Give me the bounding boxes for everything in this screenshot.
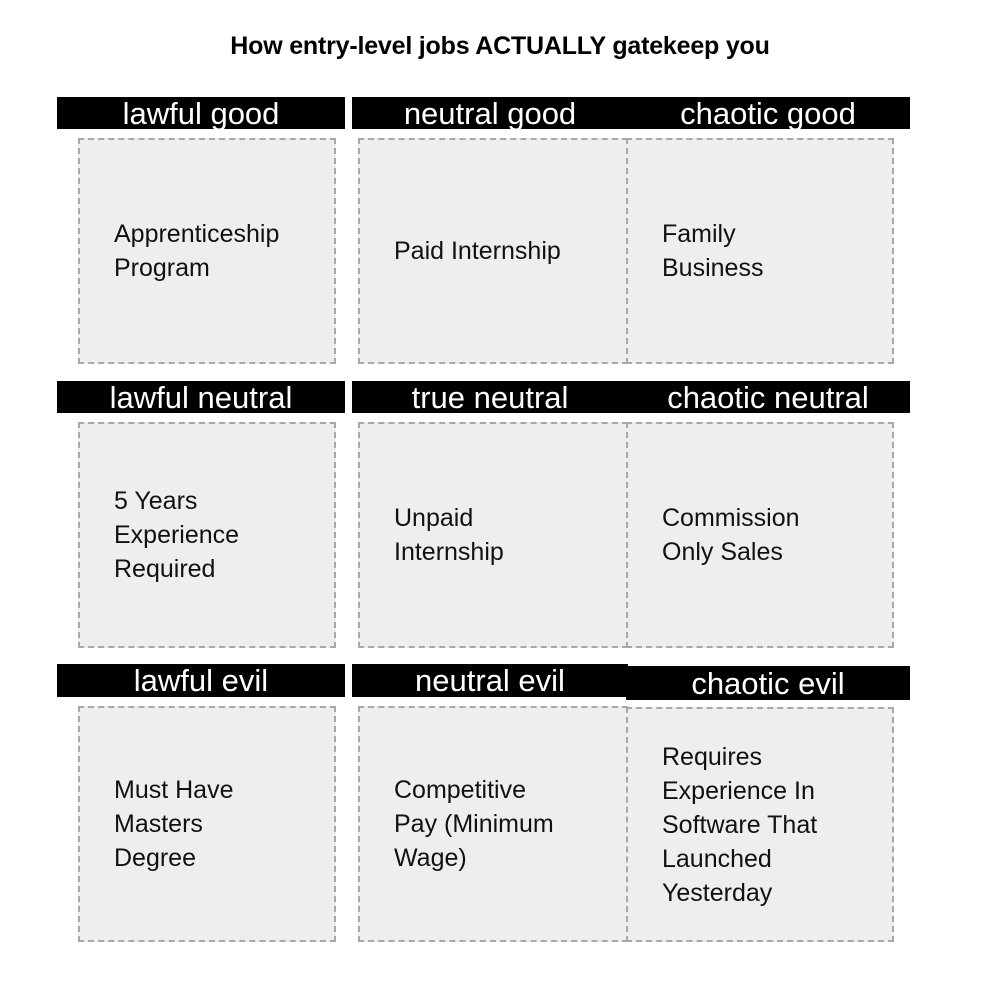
quadrant-label-neutral-evil: Competitive Pay (Minimum Wage) [360, 773, 568, 875]
quadrant-body-neutral-good[interactable]: Paid Internship [358, 138, 628, 364]
quadrant-header-neutral-good: neutral good [352, 97, 628, 129]
quadrant-label-neutral-good: Paid Internship [360, 234, 575, 268]
quadrant-header-chaotic-good: chaotic good [626, 97, 910, 129]
quadrant-header-lawful-evil: lawful evil [57, 664, 345, 697]
alignment-chart: How entry-level jobs ACTUALLY gatekeep y… [0, 0, 1000, 1000]
quadrant-label-lawful-neutral: 5 Years Experience Required [80, 484, 253, 586]
quadrant-body-neutral-evil[interactable]: Competitive Pay (Minimum Wage) [358, 706, 628, 942]
quadrant-label-chaotic-evil: Requires Experience In Software That Lau… [628, 740, 831, 910]
quadrant-label-lawful-evil: Must Have Masters Degree [80, 773, 247, 875]
quadrant-header-neutral-evil: neutral evil [352, 664, 628, 697]
quadrant-label-true-neutral: Unpaid Internship [360, 501, 518, 569]
quadrant-body-lawful-evil[interactable]: Must Have Masters Degree [78, 706, 336, 942]
quadrant-body-lawful-neutral[interactable]: 5 Years Experience Required [78, 422, 336, 648]
quadrant-body-chaotic-good[interactable]: Family Business [626, 138, 894, 364]
quadrant-header-lawful-neutral: lawful neutral [57, 381, 345, 413]
quadrant-label-lawful-good: Apprenticeship Program [80, 217, 293, 285]
quadrant-body-chaotic-neutral[interactable]: Commission Only Sales [626, 422, 894, 648]
quadrant-header-chaotic-neutral: chaotic neutral [626, 381, 910, 413]
quadrant-body-true-neutral[interactable]: Unpaid Internship [358, 422, 628, 648]
quadrant-header-true-neutral: true neutral [352, 381, 628, 413]
quadrant-body-lawful-good[interactable]: Apprenticeship Program [78, 138, 336, 364]
quadrant-header-lawful-good: lawful good [57, 97, 345, 129]
alignment-grid: lawful good Apprenticeship Program neutr… [0, 0, 1000, 1000]
quadrant-body-chaotic-evil[interactable]: Requires Experience In Software That Lau… [626, 707, 894, 942]
quadrant-label-chaotic-neutral: Commission Only Sales [628, 501, 814, 569]
quadrant-header-chaotic-evil: chaotic evil [626, 666, 910, 700]
quadrant-label-chaotic-good: Family Business [628, 217, 777, 285]
